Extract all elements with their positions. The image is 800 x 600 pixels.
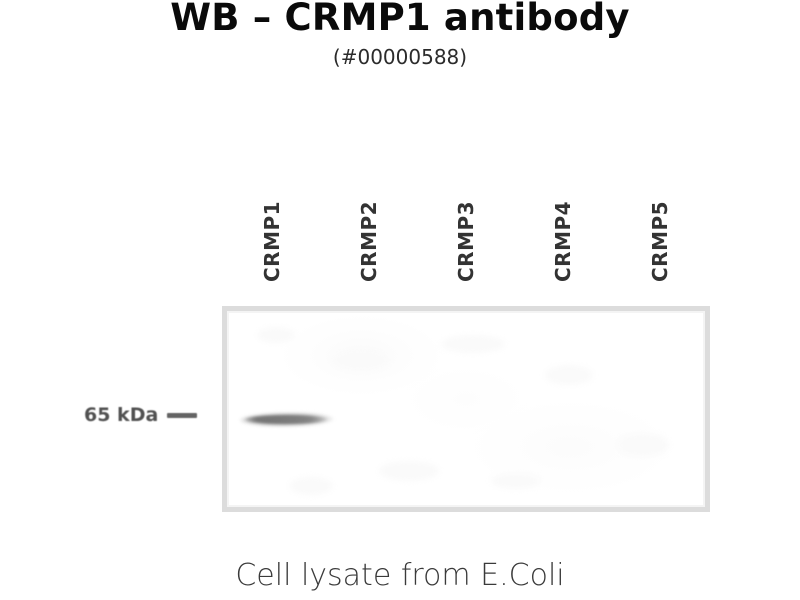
figure-caption: Cell lysate from E.Coli xyxy=(0,557,800,595)
blot-noise-speck xyxy=(379,461,439,481)
lane-label-crmp2: CRMP2 xyxy=(358,158,380,282)
blot-noise-speck xyxy=(441,335,505,353)
lane-label-crmp4: CRMP4 xyxy=(552,158,574,282)
blot-noise-speck xyxy=(289,477,333,495)
lane-label-crmp5: CRMP5 xyxy=(649,158,671,282)
molecular-weight-marker: 65 kDa xyxy=(84,398,216,432)
blot-surface xyxy=(229,313,703,505)
protein-band-crmp1-core xyxy=(245,416,327,423)
molecular-weight-label: 65 kDa xyxy=(84,404,158,426)
lane-label-crmp3: CRMP3 xyxy=(455,158,477,282)
blot-noise-speck xyxy=(333,349,389,371)
western-blot-membrane xyxy=(220,304,712,514)
blot-noise-speck xyxy=(257,327,295,343)
page-title: WB – CRMP1 antibody xyxy=(0,0,800,40)
blot-noise-speck xyxy=(617,433,669,457)
blot-noise-speck xyxy=(545,365,593,385)
marker-dash-icon xyxy=(167,413,197,418)
catalog-number: (#00000588) xyxy=(0,44,800,70)
blot-noise-speck xyxy=(491,473,541,489)
lane-label-crmp1: CRMP1 xyxy=(261,158,283,282)
